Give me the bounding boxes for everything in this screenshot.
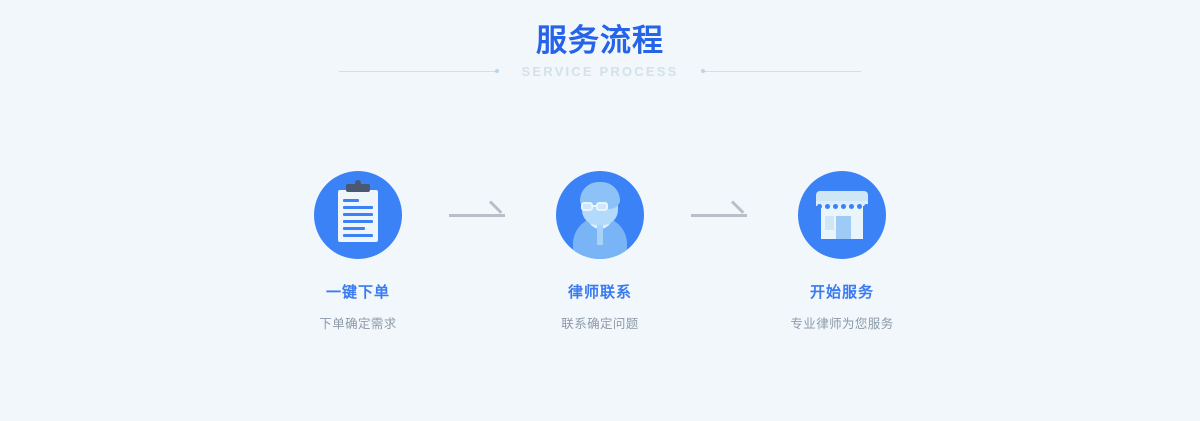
arrow-head bbox=[489, 200, 502, 213]
clipboard-line bbox=[343, 227, 365, 230]
step-item-1[interactable]: 一键下单 下单确定需求 bbox=[270, 171, 446, 332]
divider-left bbox=[339, 66, 499, 77]
divider-right bbox=[701, 66, 861, 77]
clipboard-line bbox=[343, 220, 373, 223]
subtitle-row: SERVICE PROCESS bbox=[0, 64, 1200, 79]
store-awning-scallop bbox=[817, 204, 822, 209]
step-icon-circle-2 bbox=[556, 171, 644, 259]
store-awning-scallop bbox=[841, 204, 846, 209]
clipboard-line bbox=[343, 234, 373, 237]
arrow-head bbox=[731, 200, 744, 213]
store-awning-scallop bbox=[857, 204, 862, 209]
step-description: 专业律师为您服务 bbox=[790, 313, 893, 332]
clipboard-line bbox=[343, 213, 373, 216]
step-description: 联系确定问题 bbox=[561, 313, 638, 332]
store-awning-scallop bbox=[864, 204, 869, 209]
step-item-2[interactable]: 律师联系 联系确定问题 bbox=[512, 171, 688, 332]
clipboard-line bbox=[343, 199, 359, 202]
arrow-shaft bbox=[449, 214, 505, 217]
avatar-glasses-right bbox=[596, 202, 608, 211]
process-steps: 一键下单 下单确定需求 律师联系 联系确定问题 bbox=[0, 171, 1200, 332]
arrow-right-icon bbox=[446, 171, 512, 259]
avatar-glasses-bridge bbox=[593, 205, 597, 207]
store-awning-scallop bbox=[825, 204, 830, 209]
store-door bbox=[836, 216, 851, 239]
store-awning-scallop bbox=[833, 204, 838, 209]
store-window bbox=[825, 216, 834, 230]
avatar-glasses-left bbox=[581, 202, 593, 211]
section-header: 服务流程 SERVICE PROCESS bbox=[0, 22, 1200, 79]
step-item-3[interactable]: 开始服务 专业律师为您服务 bbox=[754, 171, 930, 332]
avatar-tie bbox=[597, 225, 603, 245]
step-icon-circle-3 bbox=[798, 171, 886, 259]
clipboard-clip-knob bbox=[355, 180, 361, 186]
step-title: 开始服务 bbox=[810, 281, 874, 302]
step-title: 一键下单 bbox=[326, 281, 390, 302]
clipboard-line bbox=[343, 206, 373, 209]
store-awning-scallop bbox=[849, 204, 854, 209]
arrow-shaft bbox=[691, 214, 747, 217]
page-subtitle: SERVICE PROCESS bbox=[499, 64, 700, 79]
page-title: 服务流程 bbox=[0, 22, 1200, 60]
step-title: 律师联系 bbox=[568, 281, 632, 302]
step-icon-circle-1 bbox=[314, 171, 402, 259]
arrow-right-icon bbox=[688, 171, 754, 259]
step-description: 下单确定需求 bbox=[319, 313, 396, 332]
